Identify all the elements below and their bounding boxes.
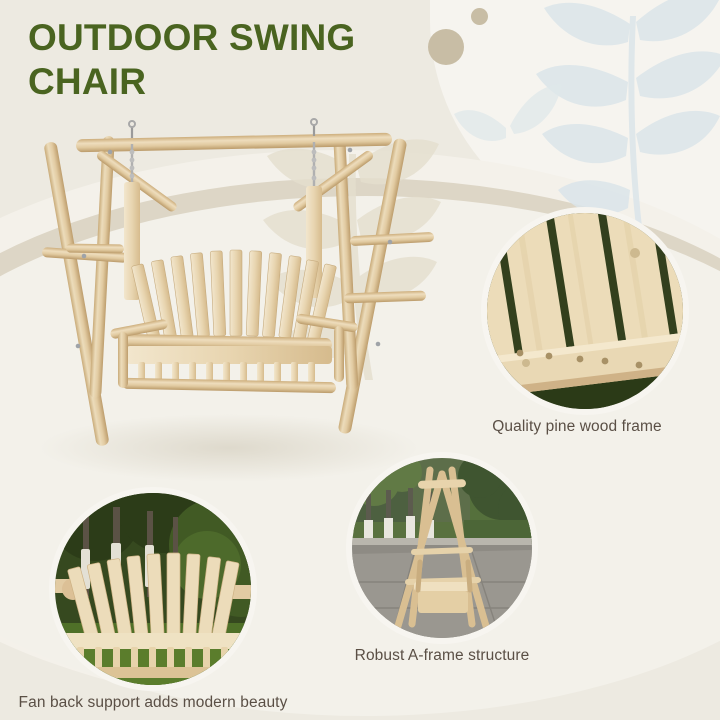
frame-left-legs (42, 136, 128, 447)
feature-caption-fan: Fan back support adds modern beauty (3, 694, 303, 712)
infographic-canvas: OUTDOOR SWING CHAIR (0, 0, 720, 720)
feature-caption-pine: Quality pine wood frame (479, 418, 675, 436)
frame-right-legs (333, 138, 434, 435)
feature-quality-pine-wood-frame[interactable]: Quality pine wood frame (487, 213, 683, 436)
feature-image-fan (55, 493, 251, 685)
feature-robust-a-frame-structure[interactable]: Robust A-frame structure (352, 458, 532, 665)
feature-image-pine (487, 213, 683, 409)
page-title: OUTDOOR SWING CHAIR (28, 16, 408, 103)
feature-caption-aframe: Robust A-frame structure (352, 647, 532, 665)
feature-fan-back-support[interactable]: Fan back support adds modern beauty (55, 493, 303, 712)
feature-image-aframe (352, 458, 532, 638)
hero-product-image (14, 96, 454, 506)
